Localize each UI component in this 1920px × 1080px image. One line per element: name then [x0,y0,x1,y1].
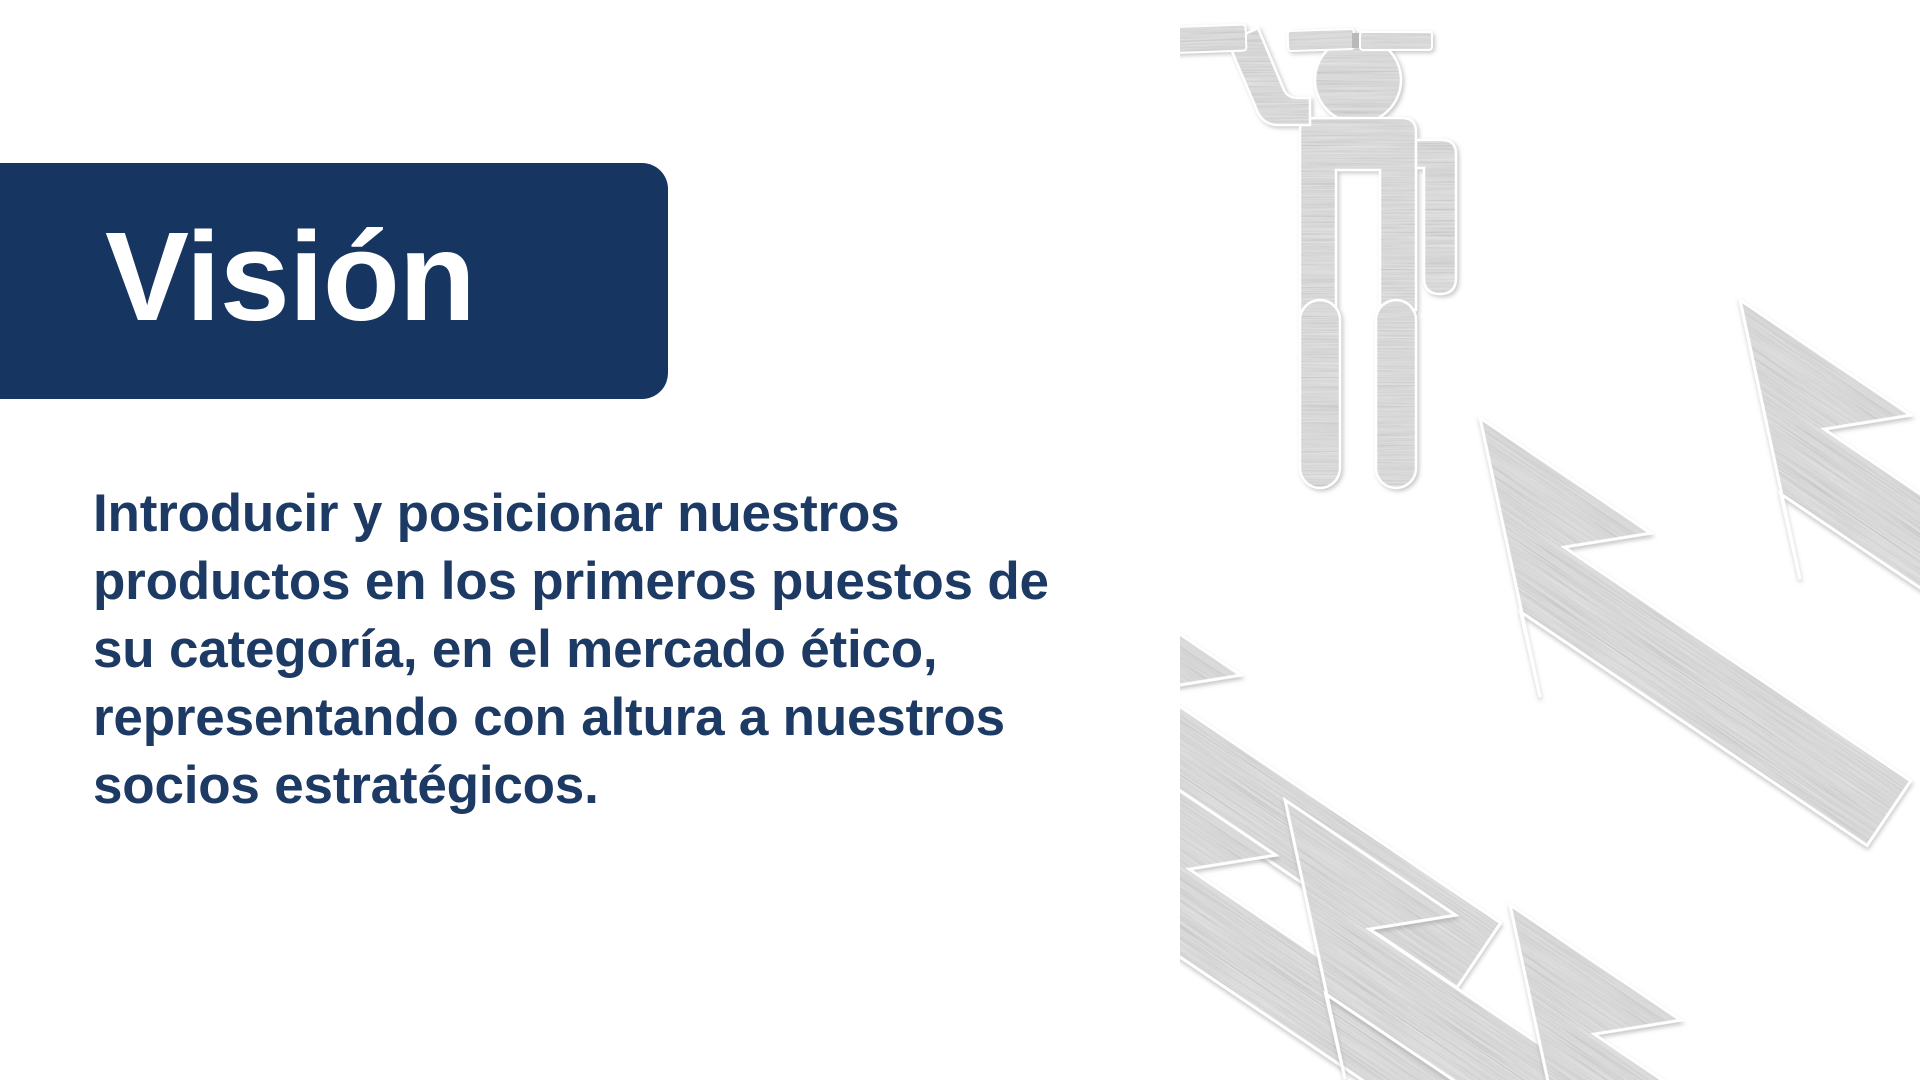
telescope-lens-icon [1180,25,1246,54]
slide-canvas: Visión Introducir y posicionar nuestros … [0,0,1920,1080]
figure-hanging-arm [1416,140,1456,294]
telescope-barrel-icon [1360,32,1432,50]
telescope-joint-icon [1352,33,1360,48]
telescope-icon [1288,29,1355,51]
person-with-telescope-icon [1180,25,1456,488]
figure-leg-right [1376,300,1416,488]
body-paragraph: Introducir y posicionar nuestros product… [93,480,1093,820]
illustration-person-with-telescope [1180,0,1920,1080]
figure-leg-left [1300,300,1340,488]
page-title: Visión [105,214,475,340]
figure-torso [1300,118,1416,320]
title-banner: Visión [0,163,668,399]
